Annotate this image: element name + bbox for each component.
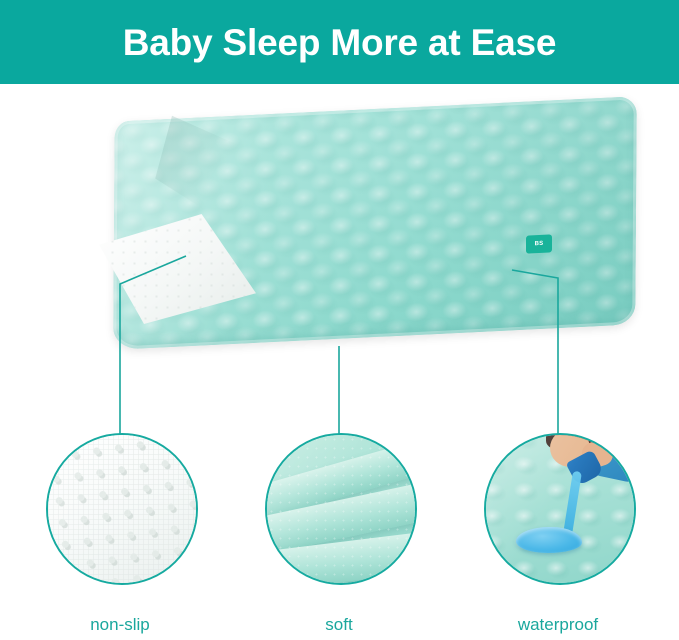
detail-circle-waterproof bbox=[484, 433, 636, 585]
caption-waterproof: waterproof bbox=[458, 616, 658, 633]
page-title: Baby Sleep More at Ease bbox=[123, 24, 556, 61]
water-puddle bbox=[516, 527, 582, 553]
soft-stitching bbox=[267, 435, 415, 583]
product-image-stage: BS bbox=[0, 84, 679, 640]
detail-circle-soft bbox=[265, 433, 417, 585]
non-slip-dots bbox=[46, 433, 198, 585]
product-mat: BS bbox=[96, 109, 636, 369]
caption-soft: soft bbox=[239, 616, 439, 633]
brand-tag: BS bbox=[526, 234, 552, 253]
detail-circle-non-slip bbox=[46, 433, 198, 585]
caption-non-slip: non-slip bbox=[20, 616, 220, 633]
brand-tag-label: BS bbox=[535, 241, 544, 247]
header-banner: Baby Sleep More at Ease bbox=[0, 0, 679, 84]
